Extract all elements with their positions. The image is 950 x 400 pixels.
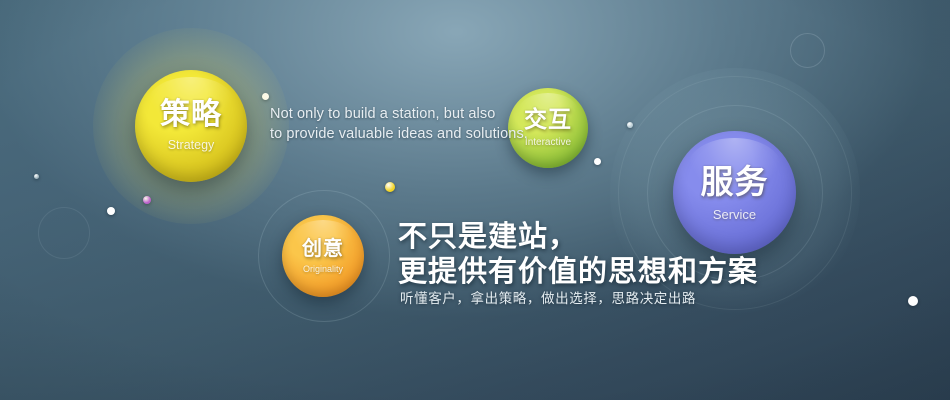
sphere-strategy-label-cn: 策略 — [160, 100, 222, 130]
sphere-interactive-label-cn: 交互 — [524, 108, 572, 131]
sphere-originality-label-cn: 创意 — [302, 239, 344, 259]
sphere-strategy-label-en: Strategy — [168, 139, 215, 152]
sphere-service-label-en: Service — [713, 208, 756, 221]
sphere-originality[interactable]: 创意Originality — [282, 215, 364, 297]
sphere-originality-label-en: Originality — [303, 265, 343, 274]
concept-spheres-layer: 策略Strategy交互Interactive创意Originality服务Se… — [0, 0, 950, 400]
english-tagline: Not only to build a station, but also to… — [270, 104, 528, 144]
sphere-strategy[interactable]: 策略Strategy — [135, 70, 247, 182]
page-title: 不只是建站， 更提供有价值的思想和方案 — [398, 220, 758, 290]
hero-banner: 策略Strategy交互Interactive创意Originality服务Se… — [0, 0, 950, 400]
sphere-interactive-label-en: Interactive — [525, 138, 571, 148]
page-subtitle: 听懂客户，拿出策略，做出选择，思路决定出路 — [400, 287, 696, 307]
sphere-service-label-cn: 服务 — [701, 165, 769, 198]
